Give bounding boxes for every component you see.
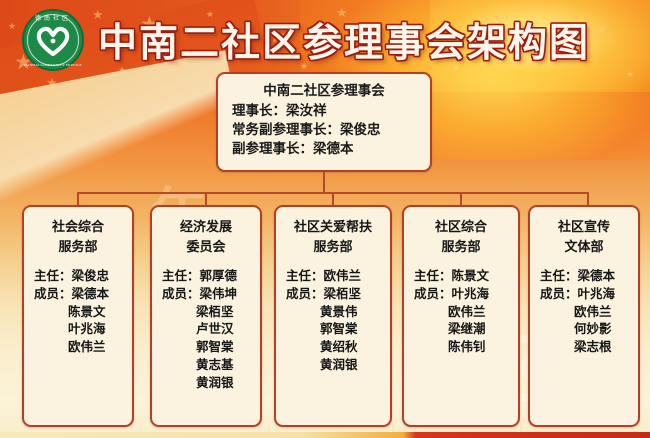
department-director: 主任：郭厚德 [162, 268, 260, 286]
department-member-first: 成员：叶兆海 [414, 286, 518, 304]
department-director: 主任：梁俊忠 [34, 268, 132, 286]
org-node-department-3: 社区关爱帮扶 服务部 主任：欧伟兰 成员：梁栢坚 黄景伟 郭智棠 黄绍秋 黄润银 [274, 205, 392, 427]
root-line-chairman: 理事长：梁汝祥 [218, 101, 430, 120]
org-node-department-1: 社会综合 服务部 主任：梁俊忠 成员：梁德本 陈景文 叶兆海 欧伟兰 [22, 205, 134, 427]
department-member: 郭智棠 [286, 321, 390, 339]
root-line-exec-vice: 常务副参理事长：梁俊忠 [218, 120, 430, 139]
department-member: 黄润银 [286, 357, 390, 375]
department-title-line1: 社区综合 [404, 217, 518, 237]
department-title-line1: 社区宣传 [530, 217, 638, 237]
connector-drop-2 [205, 192, 207, 206]
connector-drop-4 [460, 192, 462, 206]
org-node-department-5: 社区宣传 文体部 主任：梁德本 成员：叶兆海 欧伟兰 何妙影 梁志根 [528, 205, 640, 427]
department-member: 欧伟兰 [34, 339, 132, 357]
connector-drop-1 [77, 192, 79, 206]
connector-drop-5 [587, 192, 589, 206]
department-title-line2: 服务部 [276, 237, 390, 257]
department-member: 欧伟兰 [540, 304, 638, 322]
department-member: 陈景文 [34, 304, 132, 322]
department-roster: 主任：欧伟兰 成员：梁栢坚 黄景伟 郭智棠 黄绍秋 黄润银 [276, 268, 390, 375]
department-member-first: 成员：叶兆海 [540, 286, 638, 304]
bottom-trim-strip [0, 432, 650, 438]
department-member: 梁志根 [540, 339, 638, 357]
department-director: 主任：欧伟兰 [286, 268, 390, 286]
department-member: 卢世汉 [162, 321, 260, 339]
department-member: 郭智棠 [162, 339, 260, 357]
department-roster: 主任：梁俊忠 成员：梁德本 陈景文 叶兆海 欧伟兰 [24, 268, 132, 357]
department-member-first: 成员：梁伟坤 [162, 286, 260, 304]
department-title-line2: 服务部 [404, 237, 518, 257]
department-director: 主任：梁德本 [540, 268, 638, 286]
department-member: 叶兆海 [34, 321, 132, 339]
department-member: 梁栢坚 [162, 304, 260, 322]
poster-root: ★ ★ ★ ★ ★ ★ ★ ★ ★ ★ ★ ★ ★ ★ ★ ★ ★ ★ ★ 年 … [0, 0, 650, 438]
department-roster: 主任：梁德本 成员：叶兆海 欧伟兰 何妙影 梁志根 [530, 268, 638, 357]
department-member: 黄志基 [162, 357, 260, 375]
connector-root-vertical [323, 172, 325, 194]
department-member: 何妙影 [540, 321, 638, 339]
department-member: 梁继潮 [414, 321, 518, 339]
department-member-first: 成员：梁德本 [34, 286, 132, 304]
department-title-line2: 服务部 [24, 237, 132, 257]
department-member: 黄润银 [162, 375, 260, 393]
department-member: 黄绍秋 [286, 339, 390, 357]
department-roster: 主任：陈景文 成员：叶兆海 欧伟兰 梁继潮 陈伟钊 [404, 268, 518, 357]
department-member: 欧伟兰 [414, 304, 518, 322]
department-title-line1: 社会综合 [24, 217, 132, 237]
department-title-line1: 经济发展 [152, 217, 260, 237]
department-title-line1: 社区关爱帮扶 [276, 217, 390, 237]
org-node-department-4: 社区综合 服务部 主任：陈景文 成员：叶兆海 欧伟兰 梁继潮 陈伟钊 [402, 205, 520, 427]
connector-drop-3 [332, 192, 334, 206]
org-node-root: 中南二社区参理事会 理事长：梁汝祥 常务副参理事长：梁俊忠 副参理事长：梁德本 [216, 72, 432, 172]
department-member: 陈伟钊 [414, 339, 518, 357]
root-org-name: 中南二社区参理事会 [218, 81, 430, 101]
department-member: 黄景伟 [286, 304, 390, 322]
org-chart: 中南二社区参理事会 理事长：梁汝祥 常务副参理事长：梁俊忠 副参理事长：梁德本 … [0, 0, 650, 438]
department-member-first: 成员：梁栢坚 [286, 286, 390, 304]
department-title-line2: 文体部 [530, 237, 638, 257]
org-node-department-2: 经济发展 委员会 主任：郭厚德 成员：梁伟坤 梁栢坚 卢世汉 郭智棠 黄志基 黄… [150, 205, 262, 427]
department-roster: 主任：郭厚德 成员：梁伟坤 梁栢坚 卢世汉 郭智棠 黄志基 黄润银 [152, 268, 260, 392]
department-director: 主任：陈景文 [414, 268, 518, 286]
department-title-line2: 委员会 [152, 237, 260, 257]
root-line-vice: 副参理事长：梁德本 [218, 139, 430, 158]
